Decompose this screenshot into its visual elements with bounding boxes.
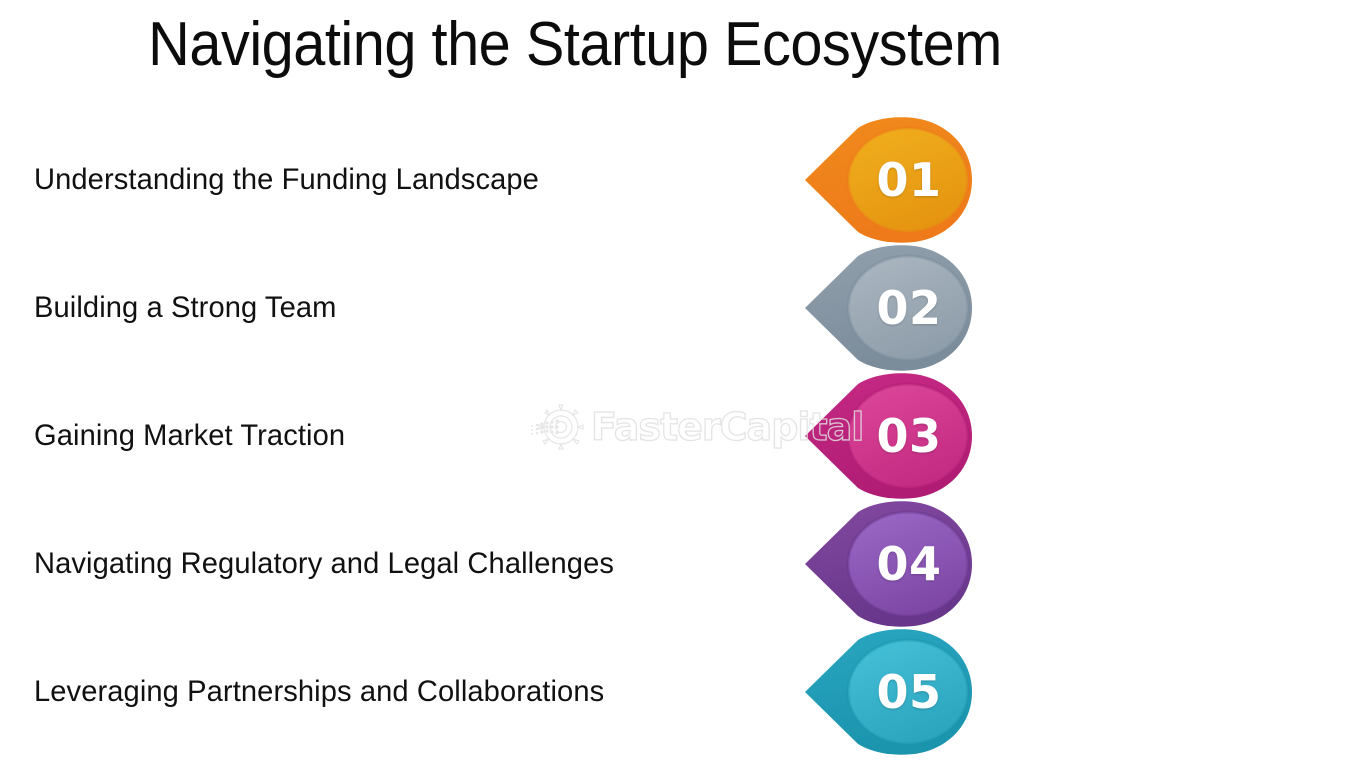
badge-teardrop-shape <box>800 116 980 244</box>
list-item-label: Building a Strong Team <box>34 244 336 372</box>
list-item: Leveraging Partnerships and Collaboratio… <box>0 628 1350 756</box>
list-item: Gaining Market Traction03 <box>0 372 1350 500</box>
list-item-label: Navigating Regulatory and Legal Challeng… <box>34 500 614 628</box>
page-title: Navigating the Startup Ecosystem <box>40 6 1110 84</box>
badge-teardrop-shape <box>800 244 980 372</box>
badge-teardrop-shape <box>800 372 980 500</box>
step-badge: 03 <box>800 372 980 500</box>
badge-teardrop-shape <box>800 500 980 628</box>
step-badge: 01 <box>800 116 980 244</box>
slide-canvas: Navigating the Startup Ecosystem Underst… <box>0 0 1350 769</box>
list-item: Understanding the Funding Landscape01 <box>0 116 1350 244</box>
list-item-label: Understanding the Funding Landscape <box>34 116 539 244</box>
step-badge: 04 <box>800 500 980 628</box>
list-item: Building a Strong Team02 <box>0 244 1350 372</box>
list-item-label: Leveraging Partnerships and Collaboratio… <box>34 628 604 756</box>
list-item-label: Gaining Market Traction <box>34 372 345 500</box>
step-badge: 05 <box>800 628 980 756</box>
numbered-list: Understanding the Funding Landscape01Bui… <box>0 116 1350 764</box>
list-item: Navigating Regulatory and Legal Challeng… <box>0 500 1350 628</box>
step-badge: 02 <box>800 244 980 372</box>
badge-teardrop-shape <box>800 628 980 756</box>
